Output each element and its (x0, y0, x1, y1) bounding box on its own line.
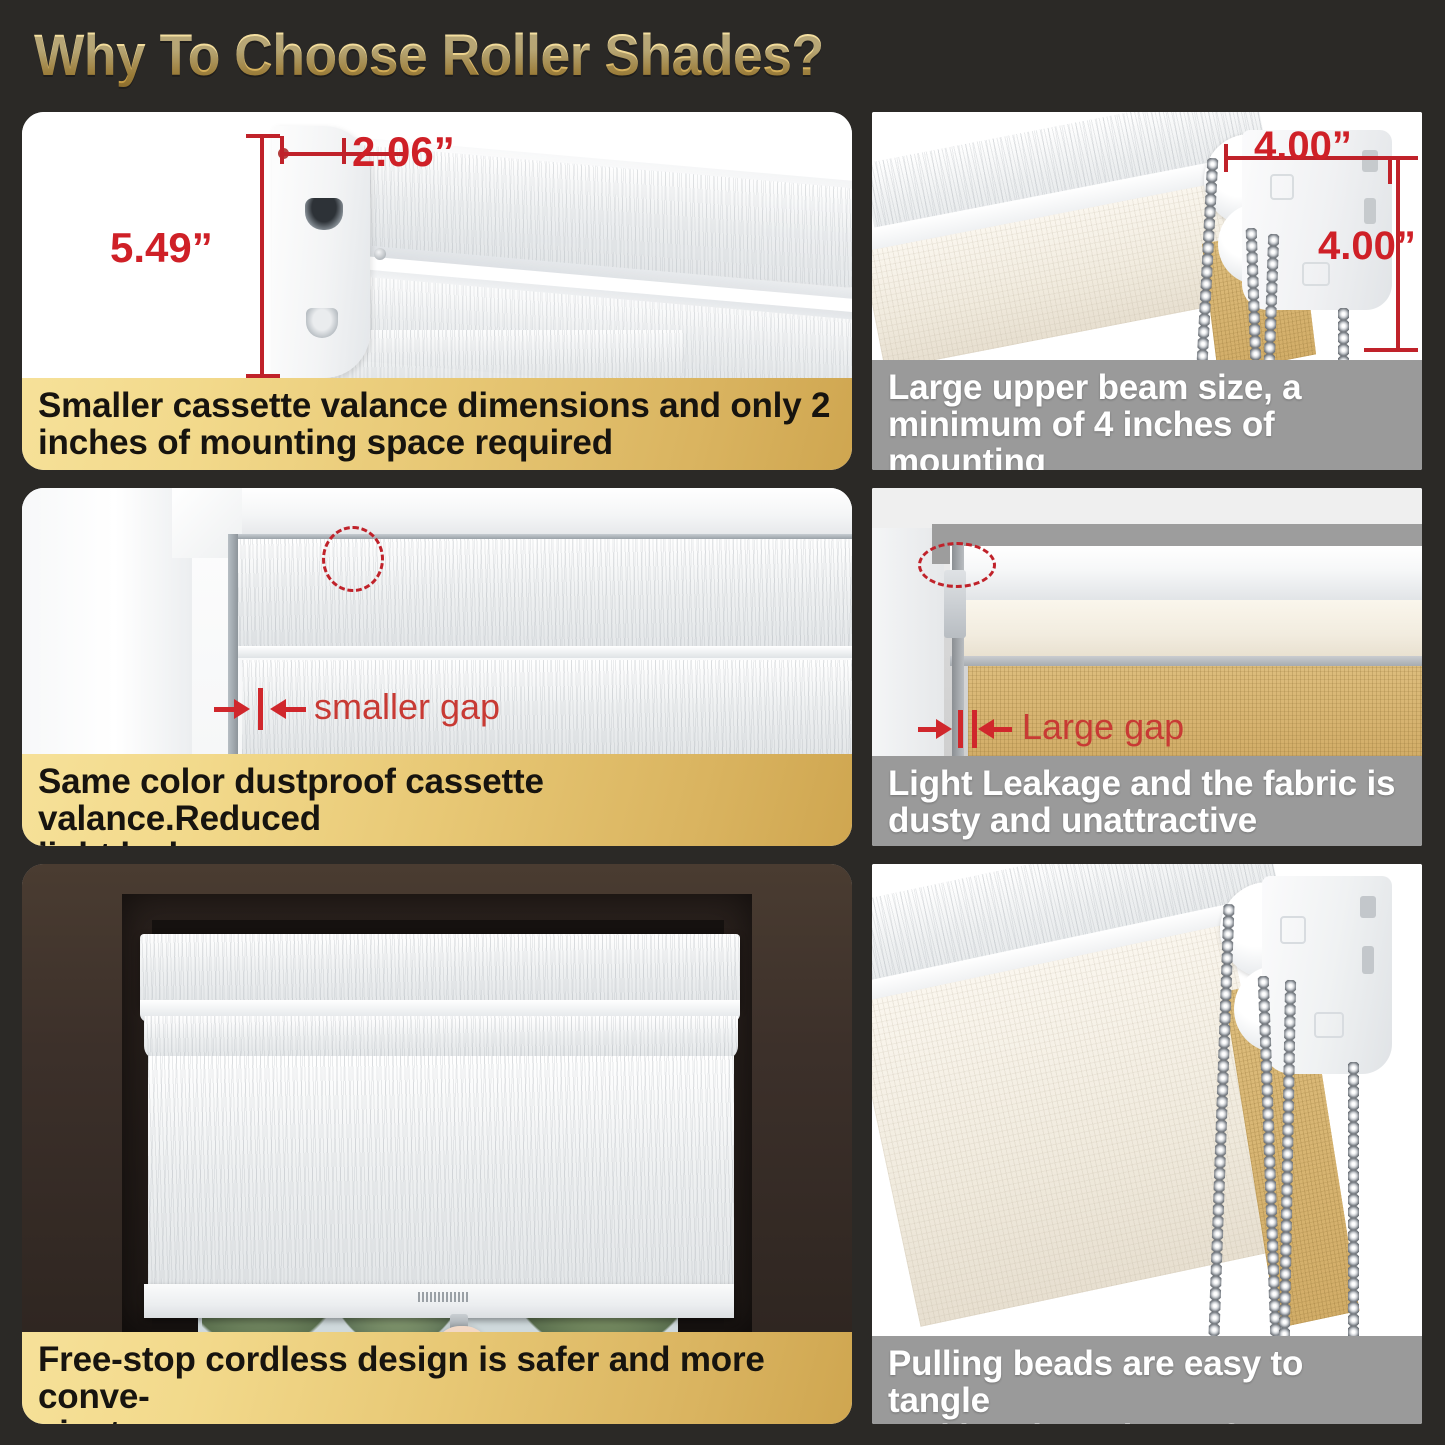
caption-line: Pulling beads are easy to tangle (888, 1345, 1406, 1419)
caption-line: inches of mounting space required (38, 424, 836, 461)
cassette-headrail (140, 934, 740, 1008)
bracket-emboss-1 (1280, 916, 1306, 944)
dim-400-v-tick-top (1388, 156, 1418, 160)
headrail-roll (144, 1016, 738, 1060)
bead-chain-tail (1348, 1062, 1359, 1336)
bracket-emboss-1 (1270, 174, 1294, 200)
dim-400-v-label: 4.00” (1318, 224, 1416, 269)
dim-400-h-label: 4.00” (1254, 124, 1352, 169)
caption-line: Light Leakage and the fabric is (888, 765, 1406, 802)
valance-bottom-edge (950, 656, 1422, 666)
panel-dustproof-valance: smaller gap Same color dustproof cassett… (22, 488, 852, 846)
dim-549-line (260, 134, 264, 378)
caption-line: and break, and unsafe (888, 1419, 1406, 1424)
window-frame-top (182, 488, 852, 534)
caption-line: Same color dustproof cassette valance.Re… (38, 763, 836, 837)
caption-line: light leakage (38, 837, 836, 846)
bracket-emboss-2 (1314, 1012, 1344, 1038)
panel-large-upper-beam: 4.00” 4.00” Large upper beam size, a min… (872, 112, 1422, 470)
bracket-slot-2 (1362, 946, 1374, 974)
shade-brand-tab (418, 1292, 470, 1302)
panel-3-image: smaller gap (22, 488, 852, 756)
panel-light-leakage: Large gap Light Leakage and the fabric i… (872, 488, 1422, 846)
panel-3-caption: Same color dustproof cassette valance.Re… (22, 754, 852, 846)
dim-400-v-tick-bottom (1364, 348, 1418, 352)
smaller-gap-label: smaller gap (314, 686, 500, 728)
gap-marker-bar-2 (972, 710, 977, 748)
caption-line: dusty and unattractive (888, 802, 1406, 839)
highlight-ellipse-icon (322, 526, 384, 592)
dim-549-tick-top (246, 134, 280, 138)
gap-marker-bar (958, 710, 963, 748)
bead-chain-tail (1338, 308, 1349, 362)
valance-face (954, 600, 1422, 658)
infographic-root: Why To Choose Roller Shades? 2.06” (0, 0, 1445, 1445)
panel-1-caption: Smaller cassette valance dimensions and … (22, 378, 852, 470)
dim-400-h-tick-left (1224, 144, 1228, 172)
panel-1-image: 2.06” 5.49” (22, 112, 852, 380)
dim-206-tick-right (342, 138, 346, 164)
valance-edge-line (234, 534, 852, 539)
caption-line: nient (38, 1415, 836, 1424)
panel-5-caption: Free-stop cordless design is safer and m… (22, 1332, 852, 1424)
bracket-slot-1 (1360, 896, 1376, 918)
gap-marker-bar (258, 688, 263, 730)
dim-549-label: 5.49” (110, 224, 213, 272)
panel-5-image (22, 864, 852, 1332)
head-rail (950, 546, 1422, 604)
panel-6-caption: Pulling beads are easy to tangle and bre… (872, 1336, 1422, 1424)
panel-smaller-cassette: 2.06” 5.49” Smaller cassette valance dim… (22, 112, 852, 470)
valance-lower-lip (236, 646, 852, 658)
dim-206-tick-left (280, 136, 284, 164)
shade-side-rail (228, 534, 238, 756)
caption-line: Smaller cassette valance dimensions and … (38, 387, 836, 424)
gap-arrow-left (214, 700, 252, 718)
caption-line: minimum of 4 inches of mounting (888, 406, 1406, 470)
shade-fabric-main (148, 1056, 734, 1292)
panel-4-image: Large gap (872, 488, 1422, 756)
bracket-screw (374, 248, 386, 260)
bracket-slot-2 (1364, 198, 1376, 224)
panel-cordless-design: Free-stop cordless design is safer and m… (22, 864, 852, 1424)
ceiling-band (872, 488, 1422, 528)
highlight-ellipse-icon (918, 542, 996, 588)
caption-line: Free-stop cordless design is safer and m… (38, 1341, 836, 1415)
gap-arrow-left (918, 720, 952, 738)
window-frame-left (22, 488, 192, 756)
panel-4-caption: Light Leakage and the fabric is dusty an… (872, 756, 1422, 846)
panel-2-image: 4.00” 4.00” (872, 112, 1422, 362)
gap-arrow-right (978, 720, 1014, 738)
caption-line: Large upper beam size, a (888, 369, 1406, 406)
panel-2-caption: Large upper beam size, a minimum of 4 in… (872, 360, 1422, 470)
dim-400-h-tick-right (1388, 156, 1392, 184)
panel-pulling-beads: Pulling beads are easy to tangle and bre… (872, 864, 1422, 1424)
panel-6-image (872, 864, 1422, 1336)
bracket-slot-1 (1362, 150, 1378, 172)
page-title: Why To Choose Roller Shades? (34, 22, 824, 89)
gap-arrow-right (270, 700, 308, 718)
dim-206-label: 2.06” (352, 128, 455, 176)
large-gap-label: Large gap (1022, 706, 1184, 748)
